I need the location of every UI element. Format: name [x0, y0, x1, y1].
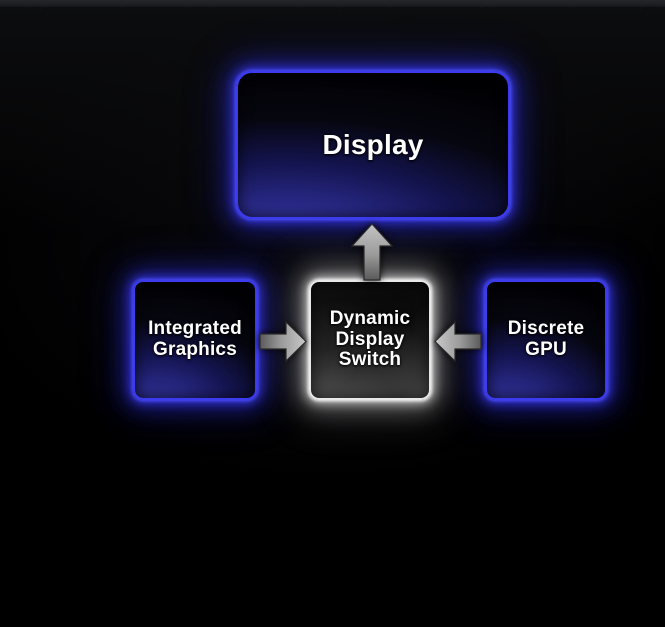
node-integrated-graphics[interactable]: Integrated Graphics — [133, 280, 257, 400]
node-discrete-gpu-label: Discrete GPU — [508, 319, 585, 360]
window-chrome-strip — [0, 0, 665, 7]
node-dynamic-display-switch-line2: Display — [335, 329, 404, 350]
node-integrated-graphics-line2: Graphics — [153, 339, 237, 360]
node-discrete-gpu-line1: Discrete — [508, 318, 585, 339]
node-dynamic-display-switch[interactable]: Dynamic Display Switch — [309, 280, 431, 400]
node-integrated-graphics-label: Integrated Graphics — [148, 319, 242, 360]
node-integrated-graphics-line1: Integrated — [148, 318, 242, 339]
node-dynamic-display-switch-line3: Switch — [339, 349, 401, 370]
arrow-up-icon — [350, 223, 394, 281]
node-display-label: Display — [323, 130, 424, 160]
node-discrete-gpu[interactable]: Discrete GPU — [485, 280, 607, 400]
node-display[interactable]: Display — [236, 71, 510, 219]
node-dynamic-display-switch-line1: Dynamic — [330, 308, 411, 329]
diagram-canvas: Display Integrated Graphics Dynamic Disp… — [0, 0, 665, 627]
node-discrete-gpu-line2: GPU — [525, 339, 567, 360]
arrow-right-icon — [259, 319, 307, 364]
node-dynamic-display-switch-label: Dynamic Display Switch — [330, 309, 411, 371]
arrow-left-icon — [434, 319, 482, 364]
